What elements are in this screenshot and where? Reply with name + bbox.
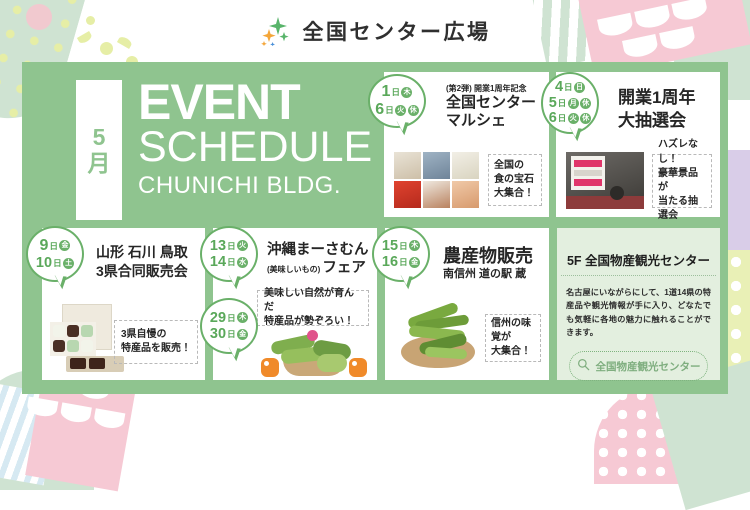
card-4-date-0: 13 日 火 bbox=[210, 239, 248, 254]
card-3-title-line-1: 山形 石川 鳥取 bbox=[96, 244, 204, 261]
card-5-date-0: 15 日 木 bbox=[382, 239, 420, 254]
card-4-title-line-1: 沖縄まーさむん bbox=[267, 242, 379, 259]
card-2-caption: ハズレなし！ 豪華景品が 当たる抽選会 bbox=[652, 154, 712, 208]
hero-month-badge: 5 月 bbox=[76, 80, 122, 220]
card-5-heading: 農産物販売 南信州 道の駅 蔵 bbox=[443, 246, 547, 281]
hero-line-event: EVENT bbox=[138, 78, 372, 126]
decor-bottom-right-dome bbox=[594, 386, 724, 484]
card-4-title-tail: フェア bbox=[322, 260, 366, 277]
hero-line-schedule: SCHEDULE bbox=[138, 126, 372, 170]
card-2-caption-line-3: 当たる抽選会 bbox=[658, 195, 706, 223]
hero-block: 5 月 EVENT SCHEDULE CHUNICHI BLDG. bbox=[76, 80, 414, 232]
search-icon bbox=[577, 358, 590, 374]
hero-text: EVENT SCHEDULE CHUNICHI BLDG. bbox=[138, 78, 372, 200]
info-panel-divider bbox=[561, 275, 716, 276]
card-1-title-line-2: マルシェ bbox=[446, 112, 546, 130]
hero-month-kanji: 月 bbox=[88, 151, 111, 175]
card-2-title-line-1: 開業1周年 bbox=[618, 88, 718, 108]
card-5-photo bbox=[395, 300, 481, 372]
card-4-date-2: 29 日 木 bbox=[210, 311, 248, 326]
sparkle-icon bbox=[260, 16, 294, 46]
card-2-date-2: 6 日 火 休 bbox=[549, 111, 592, 126]
card-1-caption: 全国の 食の宝石 大集合！ bbox=[488, 154, 542, 206]
card-4-date-3: 30 日 金 bbox=[210, 327, 248, 342]
card-1-title-line-1: 全国センター bbox=[446, 94, 546, 112]
card-2-caption-line-2: 豪華景品が bbox=[658, 167, 706, 195]
card-4-heading: 沖縄まーさむん (美味しいもの) フェア bbox=[267, 242, 379, 277]
card-2-date-0: 4 日 日 bbox=[555, 80, 585, 95]
card-5-date-bubble: 15 日 木 16 日 金 bbox=[372, 226, 430, 282]
info-panel-title: 5F 全国物産観光センター bbox=[557, 250, 720, 269]
card-2-date-bubble: 4 日 日 5 日 月 休 6 日 火 休 bbox=[541, 72, 599, 134]
decor-bottom-left-stripes bbox=[0, 383, 59, 486]
card-1-caption-line-1: 全国の bbox=[494, 159, 534, 173]
card-2-heading: 開業1周年 大抽選会 bbox=[618, 88, 718, 131]
card-4-title-note: (美味しいもの) bbox=[267, 265, 320, 274]
card-1-caption-line-3: 大集合！ bbox=[494, 187, 534, 201]
card-1-date-0: 1 日 木 bbox=[382, 84, 413, 100]
card-1-date-1: 6 日 火 休 bbox=[375, 102, 418, 118]
card-1-caption-line-2: 食の宝石 bbox=[494, 173, 534, 187]
card-3-heading: 山形 石川 鳥取 3県合同販売会 bbox=[96, 244, 204, 279]
card-2-photo bbox=[566, 152, 644, 209]
card-5-date-1: 16 日 金 bbox=[382, 255, 420, 270]
card-2-title-line-2: 大抽選会 bbox=[618, 111, 718, 131]
card-2-caption-line-1: ハズレなし！ bbox=[658, 138, 706, 166]
hero-month-number: 5 bbox=[93, 125, 106, 149]
card-5-caption-line-2: 大集合！ bbox=[491, 345, 535, 359]
card-5-title-line-1: 農産物販売 bbox=[443, 246, 547, 267]
card-1-heading: (第2弾) 開業1周年記念 全国センター マルシェ bbox=[446, 84, 546, 130]
card-4-caption-line-1: 美味しい自然が育んだ bbox=[264, 287, 362, 315]
card-4-date-1: 14 日 水 bbox=[210, 255, 248, 270]
card-4-photo bbox=[255, 328, 371, 378]
card-3-date-0: 9 日 金 bbox=[40, 238, 71, 254]
info-panel-body: 名古屋にいながらにして、1道14県の特産品や観光情報が手に入り、どなたでも気軽に… bbox=[566, 286, 711, 339]
card-5-caption: 信州の味覚が 大集合！ bbox=[485, 314, 541, 362]
card-3-date-bubble: 9 日 金 10 日 土 bbox=[26, 226, 84, 282]
info-panel-5f-center[interactable]: 5F 全国物産観光センター 名古屋にいながらにして、1道14県の特産品や観光情報… bbox=[557, 228, 720, 380]
card-5-subtitle: 南信州 道の駅 蔵 bbox=[443, 268, 547, 281]
card-5-caption-line-1: 信州の味覚が bbox=[491, 317, 535, 345]
card-1-date-bubble: 1 日 木 6 日 火 休 bbox=[368, 74, 426, 128]
search-label: 全国物産観光センター bbox=[596, 359, 701, 374]
hero-line-building: CHUNICHI BLDG. bbox=[138, 172, 372, 200]
card-4-caption: 美味しい自然が育んだ 特産品が勢ぞろい！ bbox=[257, 290, 369, 326]
card-4-date-bubble-2: 29 日 木 30 日 金 bbox=[200, 298, 258, 354]
card-3-caption-line-1: 3県自慢の bbox=[121, 328, 191, 342]
site-title: 全国センター広場 bbox=[303, 16, 491, 46]
card-4-date-bubble-1: 13 日 火 14 日 水 bbox=[200, 226, 258, 282]
card-3-date-1: 10 日 土 bbox=[36, 256, 74, 271]
card-2-date-1: 5 日 月 休 bbox=[549, 96, 592, 111]
card-3-caption-line-2: 特産品を販売！ bbox=[121, 342, 191, 356]
site-header: 全国センター広場 bbox=[0, 0, 750, 62]
card-3-caption: 3県自慢の 特産品を販売！ bbox=[114, 320, 198, 364]
card-3-title-line-2: 3県合同販売会 bbox=[96, 263, 204, 280]
card-1-pretitle: (第2弾) 開業1周年記念 bbox=[446, 84, 546, 93]
search-center-button[interactable]: 全国物産観光センター bbox=[569, 351, 708, 381]
